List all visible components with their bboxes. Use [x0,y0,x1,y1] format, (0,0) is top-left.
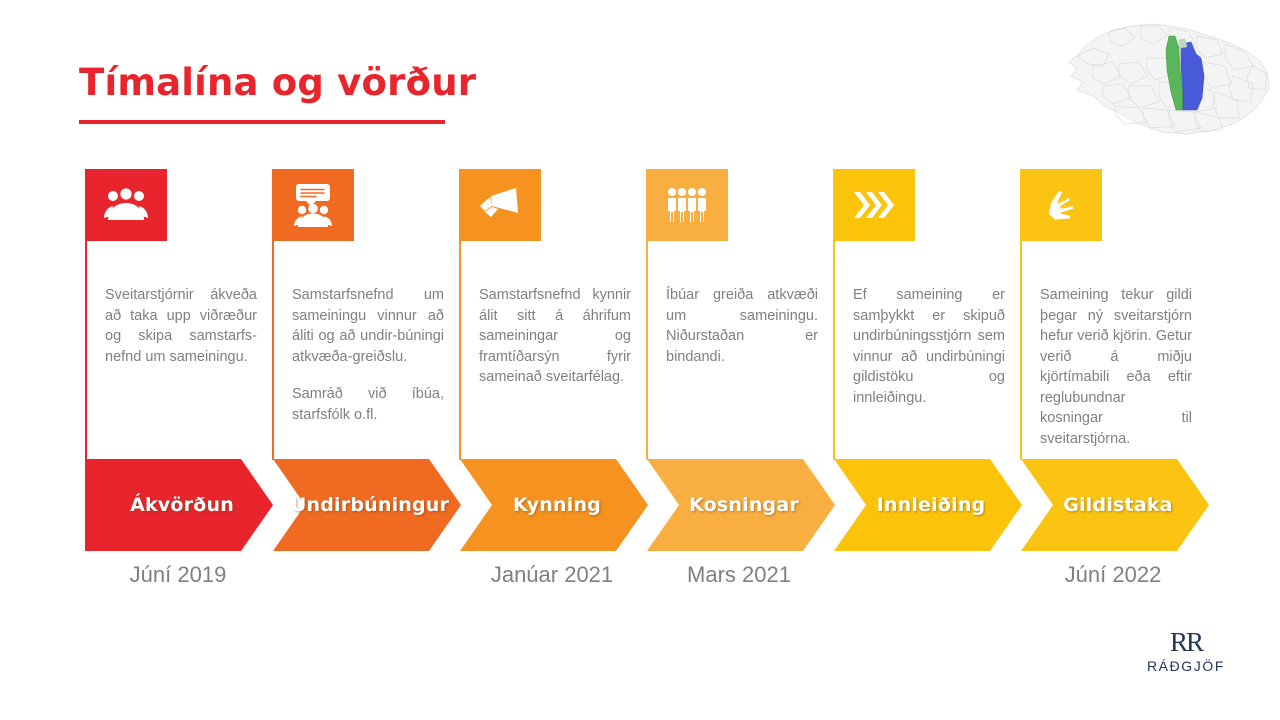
iceland-map [1063,14,1275,146]
logo-monogram: RR [1130,628,1242,656]
page-title: Tímalína og vörður [79,62,476,105]
title-block: Tímalína og vörður [79,62,476,124]
chevron-akvordun[interactable]: Ákvörðun [85,459,273,551]
stage-paragraph: Sveitarstjórnir ákveða að taka upp viðræ… [105,285,257,367]
date-label-undirbuningur [272,558,458,592]
chevron-label: Undirbúningur [273,459,461,551]
stage-text-card: Sveitarstjórnir ákveða að taka upp viðræ… [85,207,271,460]
stage-text-card: Íbúar greiða atkvæði um sameiningu. Niðu… [646,207,832,460]
stage-column-akvordun: Sveitarstjórnir ákveða að taka upp viðræ… [85,160,271,460]
stage-paragraph: Samráð við íbúa, starfsfólk o.fl. [292,384,444,425]
stage-text-card: Ef sameining er samþykkt er skipuð undir… [833,207,1019,460]
company-logo: RR RÁÐGJÖF [1130,628,1242,674]
chevron-undirbuningur[interactable]: Undirbúningur [273,459,461,551]
date-label-kynning: Janúar 2021 [459,558,645,592]
chevron-label: Kosningar [647,459,835,551]
chevron-label: Innleiðing [834,459,1022,551]
chevron-label: Gildistaka [1021,459,1209,551]
logo-wordmark: RÁÐGJÖF [1130,658,1242,674]
stage-text-card: Samstarfsnefnd um sameiningu vinnur að á… [272,207,458,460]
date-label-innleiding [833,558,1019,592]
timeline-date-labels: Júní 2019 Janúar 2021 Mars 2021 Júní 202… [0,558,1280,598]
chevron-label: Kynning [460,459,648,551]
date-label-gildistaka: Júní 2022 [1020,558,1206,592]
stage-paragraph: Samstarfsnefnd kynnir álit sitt á áhrifu… [479,285,631,388]
stage-paragraph: Sameining tekur gildi þegar ný sveitarst… [1040,285,1192,449]
chevron-innleiding[interactable]: Innleiðing [834,459,1022,551]
stage-paragraph: Íbúar greiða atkvæði um sameiningu. Niðu… [666,285,818,367]
stage-column-gildistaka: Sameining tekur gildi þegar ný sveitarst… [1020,160,1206,460]
chevron-label: Ákvörðun [85,459,273,551]
chevron-gildistaka[interactable]: Gildistaka [1021,459,1209,551]
stage-paragraph: Samstarfsnefnd um sameiningu vinnur að á… [292,285,444,367]
slide-canvas: Tímalína og vörður [0,0,1280,720]
date-label-kosningar: Mars 2021 [646,558,832,592]
stage-text-card: Samstarfsnefnd kynnir álit sitt á áhrifu… [459,207,645,460]
chevron-kynning[interactable]: Kynning [460,459,648,551]
chevron-process-band: Ákvörðun Undirbúningur Kynning Kosningar [0,459,1280,551]
stage-column-innleiding: Ef sameining er samþykkt er skipuð undir… [833,160,1019,460]
stage-column-kynning: Samstarfsnefnd kynnir álit sitt á áhrifu… [459,160,645,460]
stage-column-undirbuningur: Samstarfsnefnd um sameiningu vinnur að á… [272,160,458,460]
stage-column-kosningar: Íbúar greiða atkvæði um sameiningu. Niðu… [646,160,832,460]
title-underline-rule [79,120,445,124]
stage-text-card: Sameining tekur gildi þegar ný sveitarst… [1020,207,1206,460]
stage-paragraph: Ef sameining er samþykkt er skipuð undir… [853,285,1005,408]
date-label-akvordun: Júní 2019 [85,558,271,592]
chevron-kosningar[interactable]: Kosningar [647,459,835,551]
